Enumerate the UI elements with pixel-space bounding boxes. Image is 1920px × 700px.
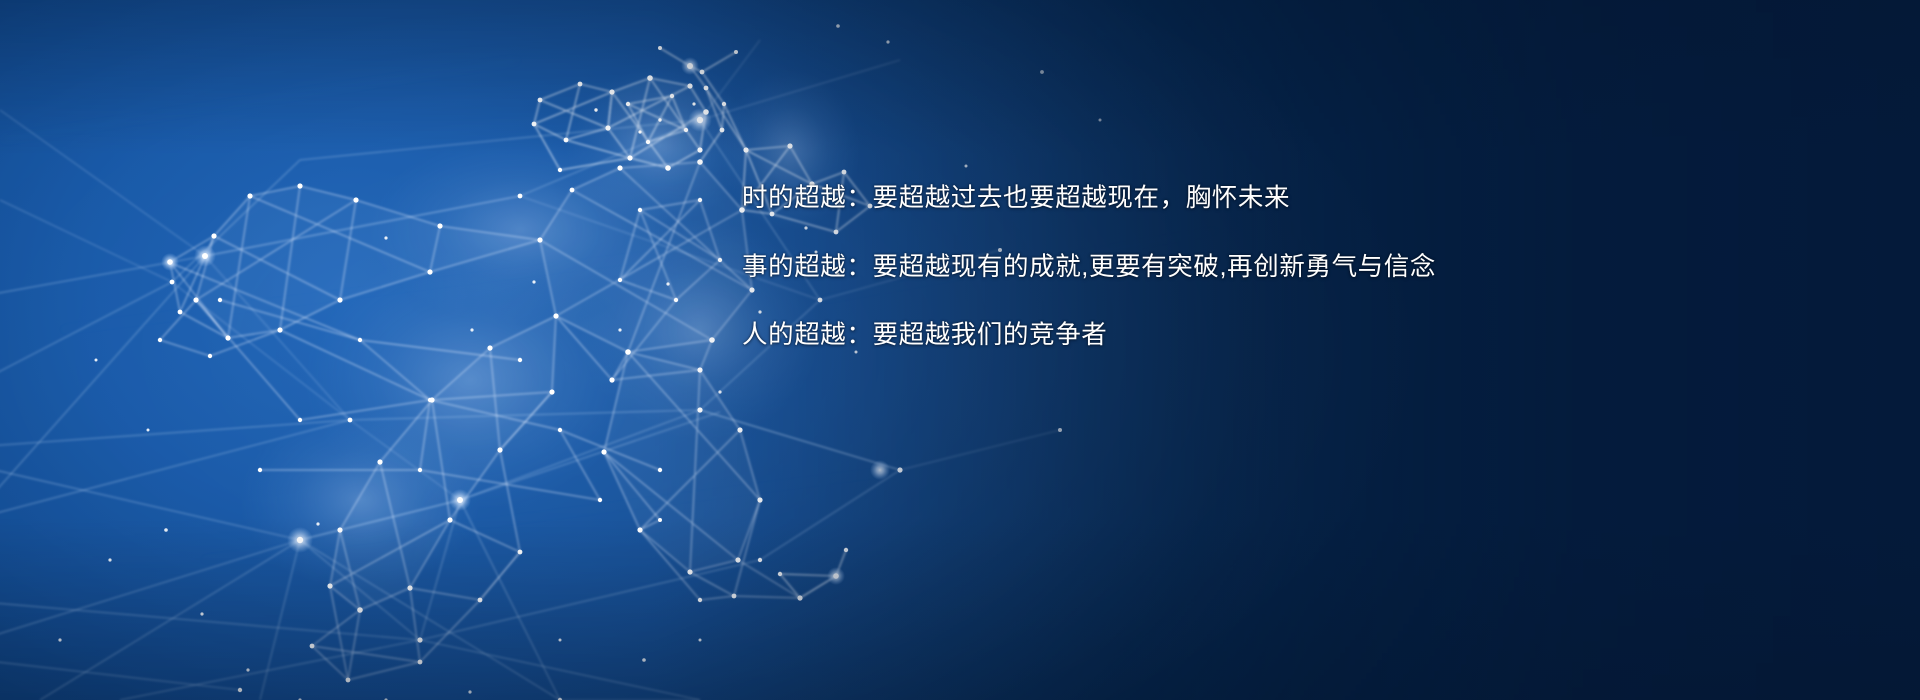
slogan-text-block: 时的超越：要超越过去也要超越现在，胸怀未来 事的超越：要超越现有的成就,更要有突…	[742, 186, 1502, 349]
slogan-line-time: 时的超越：要超越过去也要超越现在，胸怀未来	[742, 186, 1502, 212]
slogan-line-matter: 事的超越：要超越现有的成就,更要有突破,再创新勇气与信念	[742, 255, 1502, 281]
vignette-overlay	[0, 0, 1920, 700]
slogan-line-people: 人的超越：要超越我们的竞争者	[742, 323, 1502, 349]
hero-banner: .bgline { stroke:#b9d3f2; stroke-opacity…	[0, 0, 1920, 700]
